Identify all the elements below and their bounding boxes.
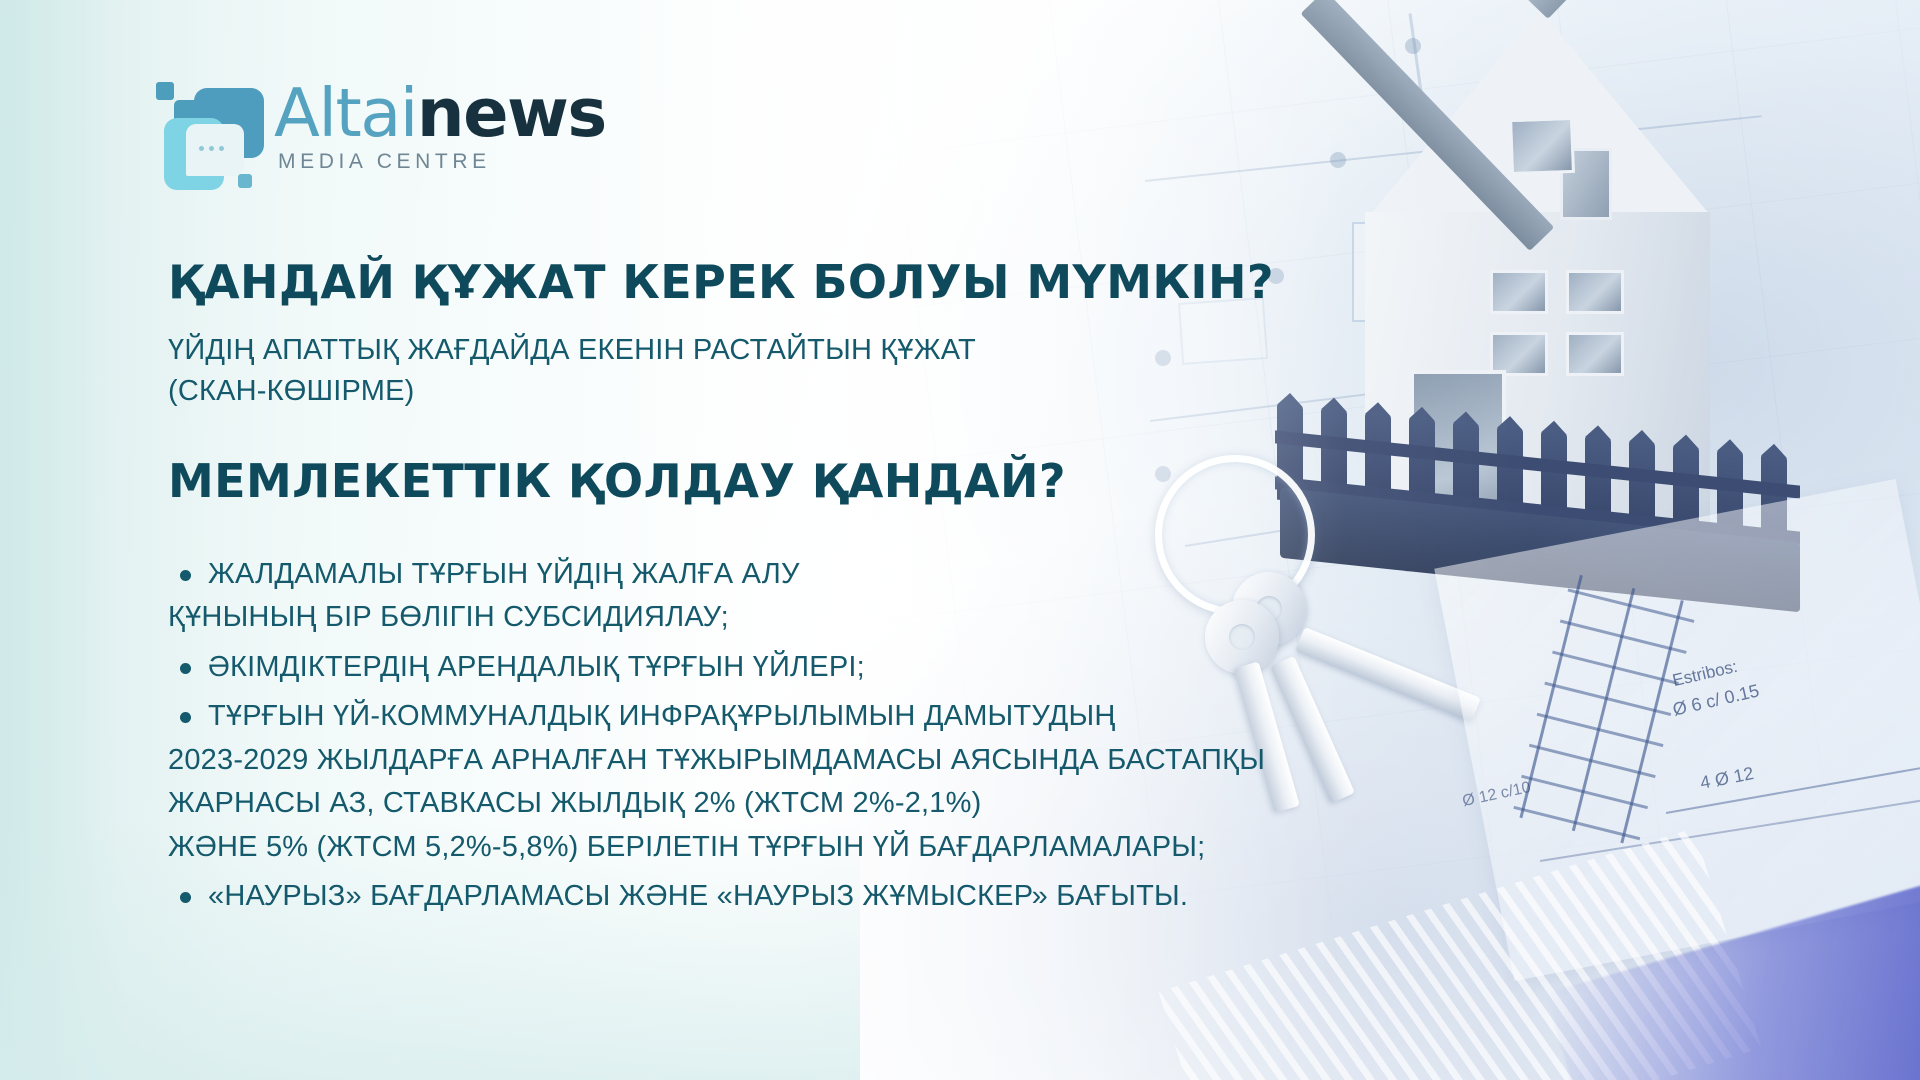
list-item: ЖАЛДАМАЛЫ ТҰРҒЫН ҮЙДІҢ ЖАЛҒА АЛУ ҚҰНЫНЫҢ… [168, 553, 1348, 640]
logo-tagline: MEDIA CENTRE [278, 150, 606, 174]
logo-square-tiny [156, 82, 174, 100]
slide-canvas: 1.87 [0, 0, 1920, 1080]
bullet-2-line-1: ӘКІМДІКТЕРДІҢ АРЕНДАЛЫҚ ТҰРҒЫН ҮЙЛЕРІ; [168, 646, 1348, 690]
bullet-3-line-2: 2023-2029 ЖЫЛДАРҒА АРНАЛҒАН ТҰЖЫРЫМДАМАС… [168, 739, 1348, 783]
bullet-1-line-2: ҚҰНЫНЫҢ БІР БӨЛІГІН СУБСИДИЯЛАУ; [168, 596, 1348, 640]
heading-state-support: МЕМЛЕКЕТТІК ҚОЛДАУ ҚАНДАЙ? [168, 457, 1348, 507]
bullet-3-line-3: ЖАРНАСЫ АЗ, СТАВКАСЫ ЖЫЛДЫҚ 2% (ЖТСМ 2%-… [168, 782, 1348, 826]
logo-word-altai: Altai [274, 74, 417, 152]
logo-wordmark: Altainews MEDIA CENTRE [274, 78, 606, 174]
support-measures-list: ЖАЛДАМАЛЫ ТҰРҒЫН ҮЙДІҢ ЖАЛҒА АЛУ ҚҰНЫНЫҢ… [168, 553, 1348, 919]
subtext-document-line-2: (СКАН-КӨШІРМЕ) [168, 371, 1348, 413]
logo-square-dot [238, 174, 252, 188]
bullet-3-line-1: ТҰРҒЫН ҮЙ-КОММУНАЛДЫҚ ИНФРАҚҰРЫЛЫМЫН ДАМ… [168, 695, 1348, 739]
list-item: «НАУРЫЗ» БАҒДАРЛАМАСЫ ЖӘНЕ «НАУРЫЗ ЖҰМЫС… [168, 875, 1348, 919]
altainews-logo-icon [146, 78, 258, 178]
subtext-document-line-1: ҮЙДІҢ АПАТТЫҚ ЖАҒДАЙДА ЕКЕНІН РАСТАЙТЫН … [168, 330, 1348, 372]
logo-word-news: news [417, 74, 606, 152]
bullet-1-line-1: ЖАЛДАМАЛЫ ТҰРҒЫН ҮЙДІҢ ЖАЛҒА АЛУ [168, 553, 1348, 597]
ellipsis-icon [199, 146, 224, 151]
list-item: ӘКІМДІКТЕРДІҢ АРЕНДАЛЫҚ ТҰРҒЫН ҮЙЛЕРІ; [168, 646, 1348, 690]
slide-content: Altainews MEDIA CENTRE ҚАНДАЙ ҚҰЖАТ КЕРЕ… [0, 0, 1920, 1080]
altainews-logo[interactable]: Altainews MEDIA CENTRE [146, 78, 606, 178]
text-block: ҚАНДАЙ ҚҰЖАТ КЕРЕК БОЛУЫ МҮМКІН? ҮЙДІҢ А… [168, 258, 1348, 925]
bullet-4-line-1: «НАУРЫЗ» БАҒДАРЛАМАСЫ ЖӘНЕ «НАУРЫЗ ЖҰМЫС… [168, 875, 1348, 919]
list-item: ТҰРҒЫН ҮЙ-КОММУНАЛДЫҚ ИНФРАҚҰРЫЛЫМЫН ДАМ… [168, 695, 1348, 869]
bullet-3-line-4: ЖӘНЕ 5% (ЖТСМ 5,2%-5,8%) БЕРІЛЕТІН ТҰРҒЫ… [168, 826, 1348, 870]
heading-what-documents: ҚАНДАЙ ҚҰЖАТ КЕРЕК БОЛУЫ МҮМКІН? [168, 258, 1348, 308]
